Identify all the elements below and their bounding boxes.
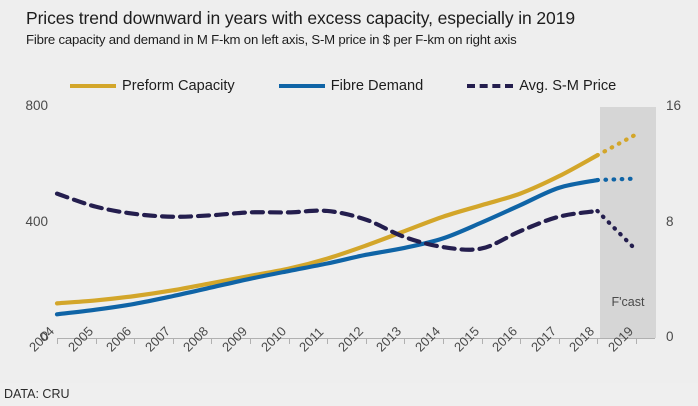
x-axis-tick — [520, 338, 521, 344]
x-axis-tick — [443, 338, 444, 344]
y2-axis-tick-label: 0 — [666, 329, 698, 344]
footer-bar — [0, 383, 698, 406]
series-line-avg-s-m-price — [57, 194, 597, 250]
x-axis-tick — [482, 338, 483, 344]
y2-axis-tick-label: 16 — [666, 98, 698, 113]
chart-card: Prices trend downward in years with exce… — [0, 0, 698, 383]
y-axis-tick-label: 400 — [4, 214, 48, 229]
x-axis-tick — [597, 338, 598, 344]
y-axis-tick-label: 800 — [4, 98, 48, 113]
series-forecast-fibre-demand — [597, 179, 636, 180]
x-axis-tick — [404, 338, 405, 344]
x-axis-tick — [134, 338, 135, 344]
x-axis-tick — [250, 338, 251, 344]
x-axis-tick — [96, 338, 97, 344]
data-source-label: DATA: CRU — [4, 387, 70, 401]
series-forecast-preform-capacity — [597, 134, 636, 155]
series-layer — [0, 0, 698, 383]
x-axis-tick — [559, 338, 560, 344]
x-axis-tick — [636, 338, 637, 344]
x-axis-tick — [327, 338, 328, 344]
x-axis-tick — [57, 338, 58, 344]
chart-screenshot: Prices trend downward in years with exce… — [0, 0, 698, 406]
x-axis-tick — [173, 338, 174, 344]
x-axis-tick — [366, 338, 367, 344]
x-axis-tick — [289, 338, 290, 344]
x-axis-tick — [211, 338, 212, 344]
plot-area: F'cast — [0, 0, 698, 383]
y2-axis-tick-label: 8 — [666, 214, 698, 229]
series-forecast-avg-s-m-price — [597, 211, 636, 250]
series-line-preform-capacity — [57, 155, 597, 303]
